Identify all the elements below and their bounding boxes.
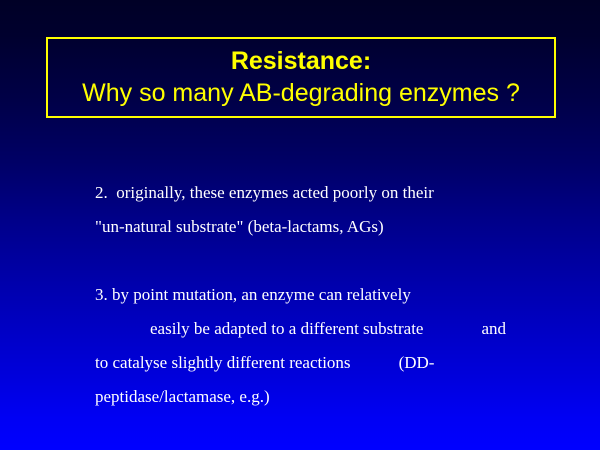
slide-body: 2. originally, these enzymes acted poorl… [95,176,565,414]
item-3-line-3-trailing: (DD- [399,353,435,372]
item-2-line-2: "un-natural substrate" (beta-lactams, AG… [95,210,565,244]
title-line-secondary: Why so many AB-degrading enzymes ? [82,77,520,110]
item-3-line-2: easily be adapted to a different substra… [95,312,565,346]
item-3-line-4: peptidase/lactamase, e.g.) [95,380,565,414]
item-2-line-1: 2. originally, these enzymes acted poorl… [95,176,565,210]
item-3-line-3: to catalyse slightly different reactions… [95,346,565,380]
title-line-primary: Resistance: [231,46,371,77]
item-3-line-1: 3. by point mutation, an enzyme can rela… [95,278,565,312]
paragraph-spacer [95,244,565,278]
item-3-line-2-text: easily be adapted to a different substra… [95,319,423,338]
title-box: Resistance: Why so many AB-degrading enz… [46,37,556,118]
item-3-line-3-text: to catalyse slightly different reactions [95,353,351,372]
item-3-line-2-trailing: and [481,319,506,338]
slide-canvas: Resistance: Why so many AB-degrading enz… [0,0,600,450]
